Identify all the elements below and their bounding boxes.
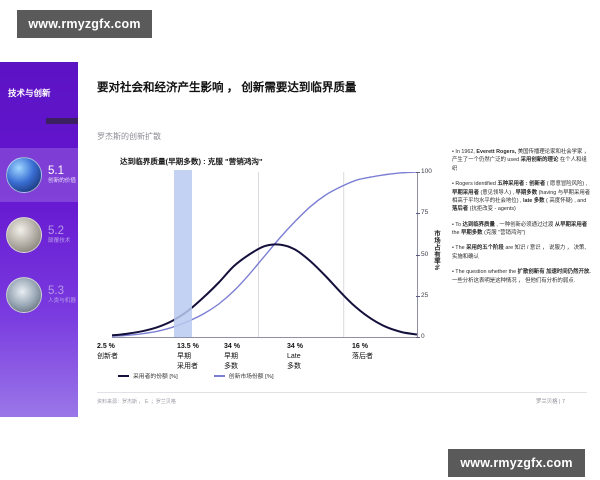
y-tick-0: 0 xyxy=(421,333,425,340)
watermark-bottom: www.rmyzgfx.com xyxy=(448,449,585,477)
slide-canvas: www.rmyzgfx.com www.rmyzgfx.com 技术与创新 5.… xyxy=(0,0,600,480)
note-five-types: • Rogers identified 五种采用者 : 创新者 ( 愿意冒险风险… xyxy=(452,180,592,214)
note-question: • The question whether the 扩散创新有 加速时间仍然开… xyxy=(452,268,592,285)
y-tick-75: 75 xyxy=(421,209,428,216)
footer-source: 资料来源：罗杰斯 ， E. ；罗兰贝格 xyxy=(97,398,176,405)
note-five-stages: • The 采用的五个阶段 are 知识 / 意识 ， 说服力 ， 决策、 实施… xyxy=(452,244,592,261)
sidebar-item-5-1[interactable]: 5.1 创新的价值 xyxy=(0,148,78,202)
watermark-top: www.rmyzgfx.com xyxy=(17,10,152,38)
x-category-0: 2.5 %创新者 xyxy=(97,342,118,362)
x-category-4: 16 %落后者 xyxy=(352,342,373,362)
sidebar-item-5-1-label: 创新的价值 xyxy=(48,178,76,185)
sidebar: 技术与创新 5.1 创新的价值 5.2 颠覆技术 5.3 人类与机器 xyxy=(0,62,78,417)
footer-page: 罗兰贝格 | 7 xyxy=(536,397,565,405)
chart-title: 达到临界质量(早期多数) : 克服 "营销鸿沟" xyxy=(120,156,263,167)
y-tick-50: 50 xyxy=(421,251,428,258)
sphere-thumbnail-icon xyxy=(6,217,42,253)
x-axis-line xyxy=(112,337,417,338)
highlight-band xyxy=(174,170,192,337)
curve-s-curve xyxy=(112,172,417,336)
chart-plot-area xyxy=(112,172,417,337)
legend-swatch-market xyxy=(214,375,225,377)
sidebar-item-5-2-label: 颠覆技术 xyxy=(48,238,70,245)
sidebar-item-5-2-text: 5.2 颠覆技术 xyxy=(48,225,70,245)
chart-legend: 采用者的份额 [%] 创新市场份额 [%] xyxy=(118,371,274,380)
note-rogers-1962: • In 1962, Everett Rogers, 美国传播理论家和社会学家 … xyxy=(452,148,592,173)
sidebar-item-5-2[interactable]: 5.2 颠覆技术 xyxy=(0,208,78,262)
x-category-2: 34 %早期多数 xyxy=(224,342,240,372)
sidebar-item-5-3[interactable]: 5.3 人类与机器 xyxy=(0,268,78,322)
note-critical-mass: • To 达到临界质量 , 一种创新必须通过过渡 从早期采用者 the 早期多数… xyxy=(452,221,592,238)
notes-panel: • In 1962, Everett Rogers, 美国传播理论家和社会学家 … xyxy=(452,148,592,292)
legend-item-market: 创新市场份额 [%] xyxy=(214,371,274,380)
subtitle: 罗杰斯的创新扩散 xyxy=(97,131,161,142)
legend-label-market: 创新市场份额 [%] xyxy=(229,371,274,380)
legend-swatch-adopters xyxy=(118,375,129,377)
chart-curves xyxy=(112,172,417,337)
legend-label-adopters: 采用者的份额 [%] xyxy=(133,371,178,380)
y-tick-25: 25 xyxy=(421,292,428,299)
footer-divider xyxy=(97,392,587,393)
x-category-3: 34 %Late多数 xyxy=(287,342,303,372)
curve-bell xyxy=(112,244,417,335)
legend-item-adopters: 采用者的份额 [%] xyxy=(118,371,178,380)
y-axis-label: 市场占有率% xyxy=(432,230,441,271)
x-category-1: 13.5 %早期采用者 xyxy=(177,342,199,372)
sidebar-title: 技术与创新 xyxy=(8,88,72,98)
innovation-thumbnail-icon xyxy=(6,157,42,193)
y-tick-100: 100 xyxy=(421,168,432,175)
sidebar-item-5-3-text: 5.3 人类与机器 xyxy=(48,285,76,305)
sidebar-item-5-2-number: 5.2 xyxy=(48,225,70,237)
sidebar-item-5-1-number: 5.1 xyxy=(48,165,76,177)
sidebar-cap xyxy=(46,118,78,124)
sidebar-item-5-3-label: 人类与机器 xyxy=(48,298,76,305)
sidebar-item-5-1-text: 5.1 创新的价值 xyxy=(48,165,76,185)
sidebar-item-5-3-number: 5.3 xyxy=(48,285,76,297)
page-title: 要对社会和经济产生影响 ， 创新需要达到临界质量 xyxy=(97,80,397,98)
machine-thumbnail-icon xyxy=(6,277,42,313)
